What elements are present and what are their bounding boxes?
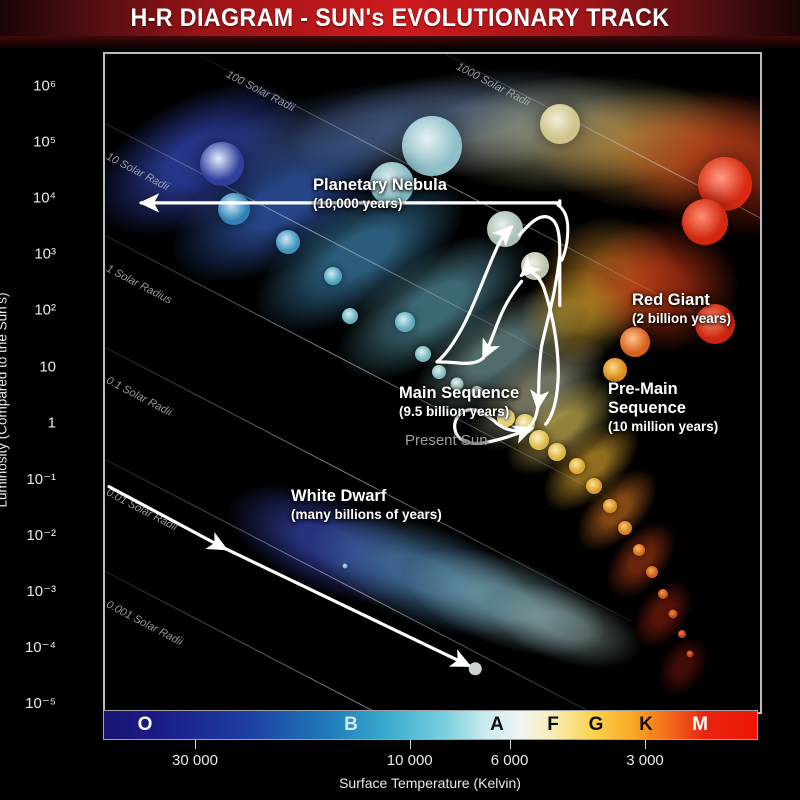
page-title: H-R DIAGRAM - SUN's EVOLUTIONARY TRACK	[28, 0, 772, 36]
annotation-present-sun: Present Sun	[405, 431, 488, 450]
hr-diagram-figure: H-R DIAGRAM - SUN's EVOLUTIONARY TRACK L…	[0, 0, 800, 800]
white-dwarf-detail: (many billions of years)	[291, 506, 442, 523]
main-sequence-detail: (9.5 billion years)	[399, 403, 519, 420]
x-axis-tick-label: 30 000	[172, 752, 218, 769]
planetary-nebula-detail: (10,000 years)	[313, 195, 447, 212]
annotation-pre-main-sequence: Pre-Main Sequence (10 million years)	[608, 380, 718, 435]
y-axis-tick-label: 10⁻¹	[0, 470, 56, 488]
track-agb-tip	[495, 227, 511, 251]
annotation-main-sequence: Main Sequence (9.5 billion years)	[399, 384, 519, 420]
x-axis-tick-label: 10 000	[387, 752, 433, 769]
y-axis-tick-label: 10⁶	[0, 78, 56, 95]
red-giant-detail: (2 billion years)	[632, 310, 731, 327]
track-horizontal-branch	[437, 358, 483, 364]
spectral-class-G: G	[589, 710, 604, 740]
x-axis-tick	[410, 740, 411, 749]
x-axis-tick	[510, 740, 511, 749]
spectral-class-A: A	[490, 710, 504, 740]
title-banner: H-R DIAGRAM - SUN's EVOLUTIONARY TRACK	[0, 0, 800, 36]
y-axis-tick-label: 10⁵	[0, 134, 56, 151]
banner-glow	[0, 36, 800, 50]
y-axis-tick-label: 10²	[0, 302, 56, 319]
y-axis-tick-label: 10	[0, 358, 56, 375]
x-axis-tick-label: 6 000	[491, 752, 529, 769]
y-axis-tick-label: 10⁻⁴	[0, 638, 56, 656]
spectral-class-O: O	[138, 710, 153, 740]
plot-area: 1000 Solar Radii100 Solar Radii10 Solar …	[103, 52, 762, 714]
track-helium-flash	[483, 281, 521, 357]
x-axis-tick-label: 3 000	[626, 752, 664, 769]
track-wd-a	[109, 487, 226, 549]
y-axis-tick-label: 10⁻³	[0, 582, 56, 600]
main-sequence-title: Main Sequence	[399, 384, 519, 403]
x-axis-tick	[195, 740, 196, 749]
track-agb-rise	[437, 251, 495, 362]
pre-main-sequence-detail: (10 million years)	[608, 418, 718, 435]
x-axis-title: Surface Temperature (Kelvin)	[339, 775, 521, 791]
present-sun-title: Present Sun	[405, 431, 488, 450]
white-dwarf-title: White Dwarf	[291, 487, 442, 506]
spectral-class-bar	[103, 710, 758, 740]
track-rgb-tip	[522, 272, 544, 288]
pre-main-sequence-title2: Sequence	[608, 399, 718, 418]
planetary-nebula-title: Planetary Nebula	[313, 176, 447, 195]
annotation-red-giant: Red Giant (2 billion years)	[632, 291, 731, 327]
spectral-class-B: B	[344, 710, 358, 740]
x-axis-tick	[645, 740, 646, 749]
y-axis-tick-label: 10⁻²	[0, 526, 56, 544]
spectral-class-K: K	[639, 710, 653, 740]
plot-inner: 1000 Solar Radii100 Solar Radii10 Solar …	[105, 54, 760, 712]
spectral-class-M: M	[692, 710, 708, 740]
red-giant-title: Red Giant	[632, 291, 731, 310]
track-subgiant-branch	[544, 287, 559, 424]
track-wd-b	[216, 544, 470, 666]
y-axis-tick-label: 10³	[0, 246, 56, 263]
y-axis-tick-label: 1	[0, 414, 56, 431]
annotation-white-dwarf: White Dwarf (many billions of years)	[291, 487, 442, 523]
y-axis-tick-label: 10⁴	[0, 190, 56, 207]
annotation-planetary-nebula: Planetary Nebula (10,000 years)	[313, 176, 447, 212]
y-axis-tick-label: 10⁻⁵	[0, 694, 56, 712]
pre-main-sequence-title: Pre-Main	[608, 380, 718, 399]
spectral-class-F: F	[547, 710, 559, 740]
white-dwarf-endpoint	[469, 662, 482, 675]
